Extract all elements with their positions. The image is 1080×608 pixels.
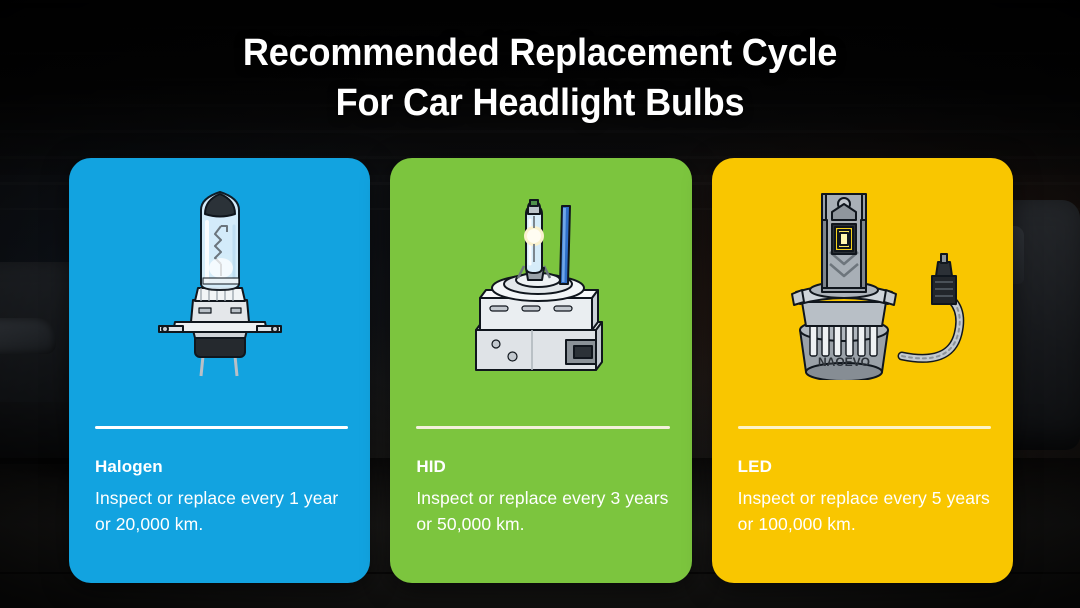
card-hid-title: HID [416, 457, 669, 477]
page-title: Recommended Replacement Cycle For Car He… [27, 28, 1053, 128]
card-halogen-divider [95, 426, 348, 429]
card-halogen-description: Inspect or replace every 1 year or 20,00… [95, 486, 348, 537]
card-led-description: Inspect or replace every 5 years or 100,… [738, 486, 991, 537]
page-title-line-1: Recommended Replacement Cycle [27, 28, 1053, 78]
card-led[interactable]: NAOEVO [712, 158, 1013, 583]
card-hid-description: Inspect or replace every 3 years or 50,0… [416, 486, 669, 537]
card-led-divider [738, 426, 991, 429]
card-led-title: LED [738, 457, 991, 477]
card-hid-divider [416, 426, 669, 429]
card-halogen-title: Halogen [95, 457, 348, 477]
card-hid-body: HID Inspect or replace every 3 years or … [416, 426, 669, 537]
card-list: Halogen Inspect or replace every 1 year … [69, 158, 1013, 583]
card-hid[interactable]: HID Inspect or replace every 3 years or … [390, 158, 691, 583]
card-halogen-body: Halogen Inspect or replace every 1 year … [95, 426, 348, 537]
card-led-body: LED Inspect or replace every 5 years or … [738, 426, 991, 537]
led-bulb-icon: NAOEVO [752, 180, 972, 380]
card-halogen[interactable]: Halogen Inspect or replace every 1 year … [69, 158, 370, 583]
led-brand-label: NAOEVO [818, 355, 870, 369]
page-title-line-2: For Car Headlight Bulbs [27, 78, 1053, 128]
infographic-canvas: Recommended Replacement Cycle For Car He… [0, 0, 1080, 608]
hid-xenon-bulb-icon [446, 180, 636, 380]
halogen-h7-bulb-icon [135, 180, 305, 380]
